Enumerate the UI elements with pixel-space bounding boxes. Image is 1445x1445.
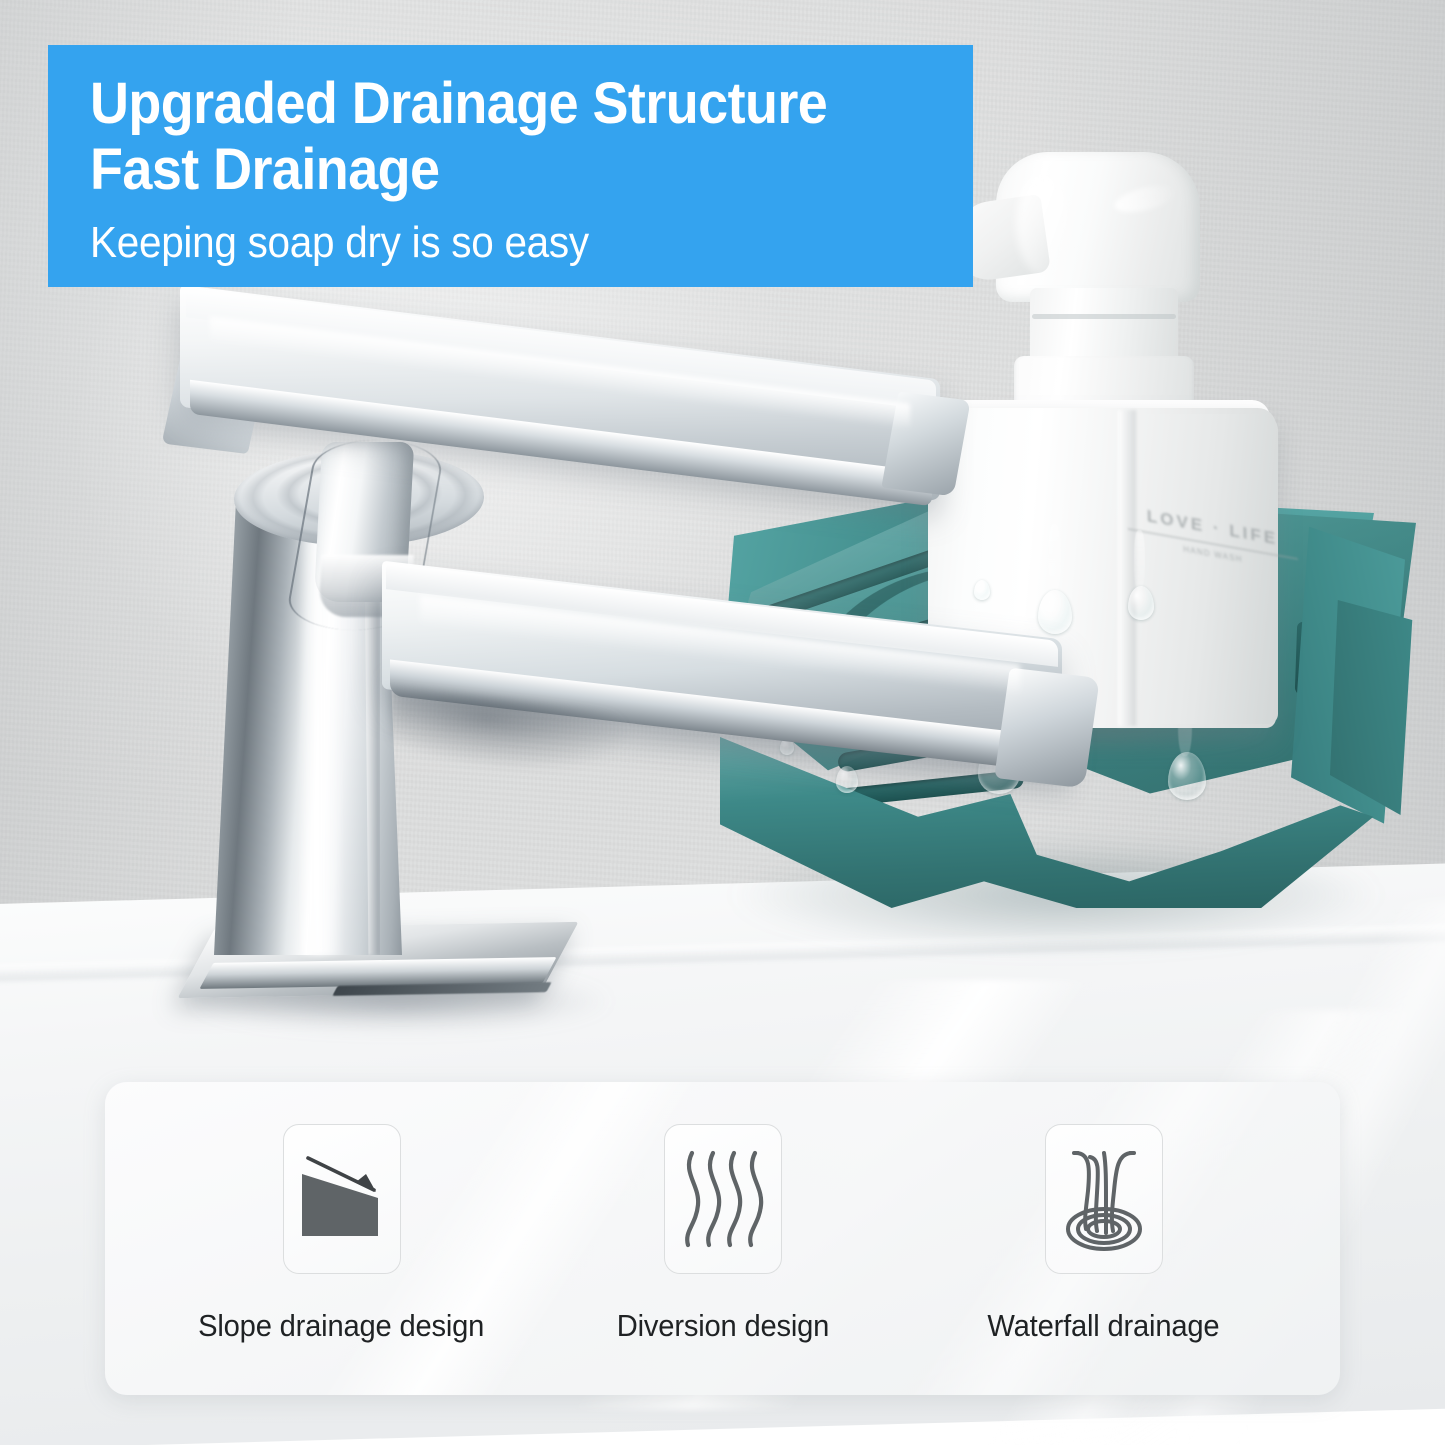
feature-label-waterfall: Waterfall drainage [987, 1308, 1219, 1344]
slope-ramp-arrow-icon [283, 1124, 401, 1274]
water-droplet [974, 580, 990, 600]
feature-card-diversion[interactable]: Diversion design [558, 1124, 888, 1344]
wavy-lines-glyph [676, 1143, 770, 1255]
feature-label-slope: Slope drainage design [198, 1308, 484, 1344]
feature-card-waterfall[interactable]: Waterfall drainage [939, 1124, 1269, 1344]
water-droplet [1128, 586, 1154, 620]
pump-neck-rib [1032, 314, 1176, 319]
feature-row: Slope drainage design Diversion design [105, 1082, 1340, 1395]
soap-dispenser: LOVE · LIFE HAND WASH [918, 118, 1298, 718]
pump-head-highlight [1016, 172, 1072, 276]
waterfall-ripple-icon [1045, 1124, 1163, 1274]
feature-card-slope[interactable]: Slope drainage design [177, 1124, 507, 1344]
feature-label-diversion: Diversion design [616, 1308, 828, 1344]
waterfall-ripple-glyph [1056, 1141, 1152, 1257]
feature-panel: Slope drainage design Diversion design [105, 1082, 1340, 1395]
water-streak [1134, 530, 1145, 590]
wavy-diversion-lines-icon [664, 1124, 782, 1274]
faucet [150, 300, 870, 1060]
banner-title: Upgraded Drainage Structure Fast Drainag… [90, 71, 911, 202]
banner-subtitle: Keeping soap dry is so easy [90, 218, 902, 268]
water-streak [1048, 524, 1061, 594]
slope-ramp-arrow-glyph [294, 1140, 390, 1258]
headline-banner: Upgraded Drainage Structure Fast Drainag… [48, 45, 973, 287]
